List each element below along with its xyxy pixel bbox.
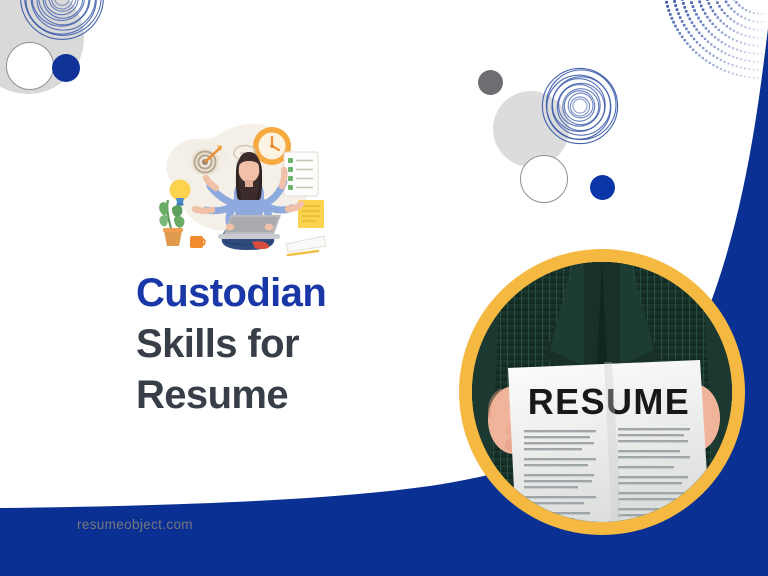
outline-circle-decor-top-left bbox=[6, 42, 54, 90]
dark-dot-decor-top-right bbox=[478, 70, 503, 95]
navy-dot-decor-top-left bbox=[52, 54, 80, 82]
title-line-secondary-2: Resume bbox=[136, 370, 466, 421]
person-holding-resume-image: RESUME bbox=[472, 262, 732, 522]
poster-canvas: Custodian Skills for Resume resumeobject… bbox=[0, 0, 768, 576]
spiral-decor-top-right bbox=[540, 66, 620, 146]
blue-dot-decor-top-right bbox=[590, 175, 615, 200]
spiral-decor-top-left bbox=[18, 0, 106, 42]
resume-photo: RESUME bbox=[472, 262, 732, 522]
resume-document: RESUME bbox=[508, 360, 710, 522]
site-url-label: resumeobject.com bbox=[77, 517, 193, 532]
multitasking-woman-illustration bbox=[138, 112, 334, 264]
potted-plant-icon bbox=[159, 200, 184, 246]
coffee-mug-icon bbox=[190, 236, 205, 248]
resume-photo-medallion: RESUME bbox=[459, 249, 745, 535]
title-line-primary: Custodian bbox=[136, 268, 466, 319]
dotted-radial-pattern-icon bbox=[654, 0, 768, 86]
outline-circle-decor-top-right bbox=[520, 155, 568, 203]
checklist-icon bbox=[284, 152, 318, 196]
paper-and-pencil-icon bbox=[286, 236, 326, 255]
page-title: Custodian Skills for Resume bbox=[136, 268, 466, 421]
title-line-secondary-1: Skills for bbox=[136, 319, 466, 370]
